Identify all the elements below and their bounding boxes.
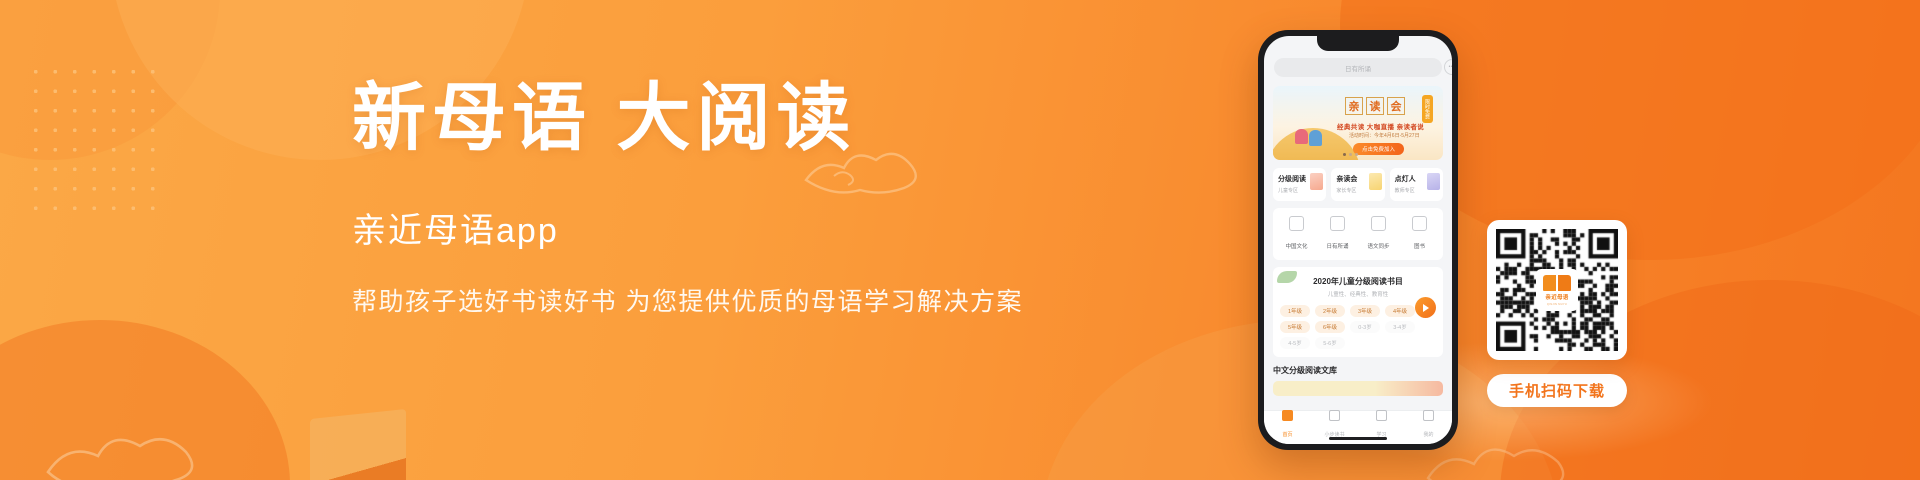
tab-home[interactable]: 首页 bbox=[1264, 410, 1311, 441]
phone-mockup: 日有所诵 ••• 亲 读 会 限时免费 经典共读 大咖直播 亲读者说 活动时间：… bbox=[1258, 30, 1458, 450]
grade-chip[interactable]: 3年级 bbox=[1350, 305, 1380, 317]
screen-body: 亲 读 会 限时免费 经典共读 大咖直播 亲读者说 活动时间：今年4月6日-5月… bbox=[1264, 86, 1452, 396]
app-name: 亲近母语app bbox=[352, 203, 1052, 252]
page-title: 新母语 大阅读 bbox=[352, 78, 1052, 161]
booklist-card: 2020年儿童分级阅读书目 儿童性、经典性、教育性 1年级 2年级 3年级 4年… bbox=[1273, 267, 1443, 357]
library-banner[interactable] bbox=[1273, 381, 1443, 396]
copy-block: 新母语 大阅读 亲近母语app 帮助孩子选好书读好书 为您提供优质的母语学习解决… bbox=[352, 78, 1052, 318]
tab-label: 首页 bbox=[1282, 432, 1292, 438]
brand-name: 亲近母语 bbox=[1545, 293, 1568, 301]
booklist-subtitle: 儿童性、经典性、教育性 bbox=[1280, 290, 1436, 298]
category-card-graded-reading[interactable]: 分级阅读 儿童专区 bbox=[1273, 168, 1326, 201]
decor-circle-top-left-outer bbox=[0, 0, 220, 160]
recite-icon bbox=[1330, 216, 1345, 231]
tab-reading[interactable]: 小步读书 bbox=[1311, 410, 1358, 441]
video-play-icon[interactable] bbox=[1415, 297, 1436, 318]
promo-title-char: 会 bbox=[1387, 97, 1405, 115]
promo-badge: 限时免费 bbox=[1422, 95, 1433, 123]
library-section-title: 中文分级阅读文库 bbox=[1273, 365, 1443, 376]
download-button[interactable]: 手机扫码下载 bbox=[1487, 374, 1627, 407]
brand-name-latin: QINJIN MUYU bbox=[1547, 303, 1567, 306]
age-chip[interactable]: 5-6岁 bbox=[1315, 337, 1345, 349]
quick-item-label: 语文同步 bbox=[1367, 244, 1389, 250]
promo-banner: 新母语 大阅读 亲近母语app 帮助孩子选好书读好书 为您提供优质的母语学习解决… bbox=[0, 0, 1920, 480]
promo-join-button[interactable]: 点击免费加入 bbox=[1353, 143, 1404, 155]
booklist-title: 2020年儿童分级阅读书目 bbox=[1280, 276, 1436, 287]
quick-item-label: 图书 bbox=[1414, 244, 1425, 250]
tab-study[interactable]: 学习 bbox=[1358, 410, 1405, 441]
age-chip[interactable]: 0-3岁 bbox=[1350, 321, 1380, 333]
brand-logo: 亲近母语 QINJIN MUYU bbox=[1536, 269, 1578, 311]
grade-chip[interactable]: 2年级 bbox=[1315, 305, 1345, 317]
search-input[interactable]: 日有所诵 ••• bbox=[1274, 58, 1442, 77]
promo-title: 亲 读 会 bbox=[1345, 97, 1405, 115]
decor-dot-grid bbox=[26, 62, 156, 212]
book-icon bbox=[1412, 216, 1427, 231]
grade-chip[interactable]: 6年级 bbox=[1315, 321, 1345, 333]
tab-profile[interactable]: 我的 bbox=[1405, 410, 1452, 441]
card-art-icon bbox=[1310, 173, 1323, 190]
quick-item-label: 中国文化 bbox=[1285, 244, 1307, 250]
study-icon bbox=[1376, 410, 1387, 421]
carousel-dot[interactable] bbox=[1343, 153, 1346, 156]
category-card-parent-club[interactable]: 亲读会 家长专区 bbox=[1331, 168, 1384, 201]
carousel-dot[interactable] bbox=[1349, 153, 1352, 156]
quick-item-label: 日有所诵 bbox=[1326, 244, 1348, 250]
card-art-icon bbox=[1427, 173, 1440, 190]
decor-circle-bottom-left bbox=[0, 320, 290, 480]
search-placeholder: 日有所诵 bbox=[1345, 63, 1371, 73]
promo-child-1 bbox=[1295, 129, 1308, 144]
profile-icon bbox=[1423, 410, 1434, 421]
culture-icon bbox=[1289, 216, 1304, 231]
qr-block: 亲近母语 QINJIN MUYU 手机扫码下载 bbox=[1487, 220, 1627, 407]
quick-icon-row: 中国文化 日有所诵 语文同步 图书 bbox=[1273, 208, 1443, 260]
promo-date: 活动时间：今年4月6日-5月27日 bbox=[1349, 132, 1420, 139]
home-indicator bbox=[1329, 437, 1387, 440]
home-icon bbox=[1282, 410, 1293, 421]
grade-chip-list: 1年级 2年级 3年级 4年级 5年级 6年级 0-3岁 3-4岁 4-5岁 5… bbox=[1280, 305, 1436, 349]
category-card-teacher[interactable]: 点灯人 教师专区 bbox=[1390, 168, 1443, 201]
promo-subtitle: 经典共读 大咖直播 亲读者说 bbox=[1337, 121, 1424, 131]
quick-item-books[interactable]: 图书 bbox=[1399, 216, 1440, 253]
tagline: 帮助孩子选好书读好书 为您提供优质的母语学习解决方案 bbox=[352, 282, 1052, 318]
tab-label: 我的 bbox=[1423, 432, 1433, 438]
promo-title-char: 读 bbox=[1366, 97, 1384, 115]
promo-title-char: 亲 bbox=[1345, 97, 1363, 115]
qr-code-icon[interactable]: 亲近母语 QINJIN MUYU bbox=[1487, 220, 1627, 360]
category-cards: 分级阅读 儿童专区 亲读会 家长专区 点灯人 教师专区 bbox=[1273, 168, 1443, 201]
grade-chip[interactable]: 5年级 bbox=[1280, 321, 1310, 333]
sync-icon bbox=[1371, 216, 1386, 231]
carousel-dots[interactable] bbox=[1343, 153, 1358, 156]
quick-item-culture[interactable]: 中国文化 bbox=[1276, 216, 1317, 253]
reading-icon bbox=[1329, 410, 1340, 421]
quick-item-recite[interactable]: 日有所诵 bbox=[1317, 216, 1358, 253]
book-logo-icon bbox=[1543, 275, 1571, 291]
phone-screen: 日有所诵 ••• 亲 读 会 限时免费 经典共读 大咖直播 亲读者说 活动时间：… bbox=[1264, 36, 1452, 444]
more-dots-icon[interactable]: ••• bbox=[1444, 59, 1452, 75]
decor-cube bbox=[310, 409, 406, 480]
promo-card[interactable]: 亲 读 会 限时免费 经典共读 大咖直播 亲读者说 活动时间：今年4月6日-5月… bbox=[1273, 86, 1443, 160]
play-triangle bbox=[1423, 304, 1429, 312]
decor-cloud-left-icon bbox=[40, 416, 220, 480]
age-chip[interactable]: 3-4岁 bbox=[1385, 321, 1415, 333]
phone-notch bbox=[1317, 36, 1399, 51]
promo-child-2 bbox=[1309, 130, 1322, 146]
grade-chip[interactable]: 4年级 bbox=[1385, 305, 1415, 317]
age-chip[interactable]: 4-5岁 bbox=[1280, 337, 1310, 349]
carousel-dot[interactable] bbox=[1355, 153, 1358, 156]
card-art-icon bbox=[1369, 173, 1382, 190]
grade-chip[interactable]: 1年级 bbox=[1280, 305, 1310, 317]
quick-item-sync[interactable]: 语文同步 bbox=[1358, 216, 1399, 253]
